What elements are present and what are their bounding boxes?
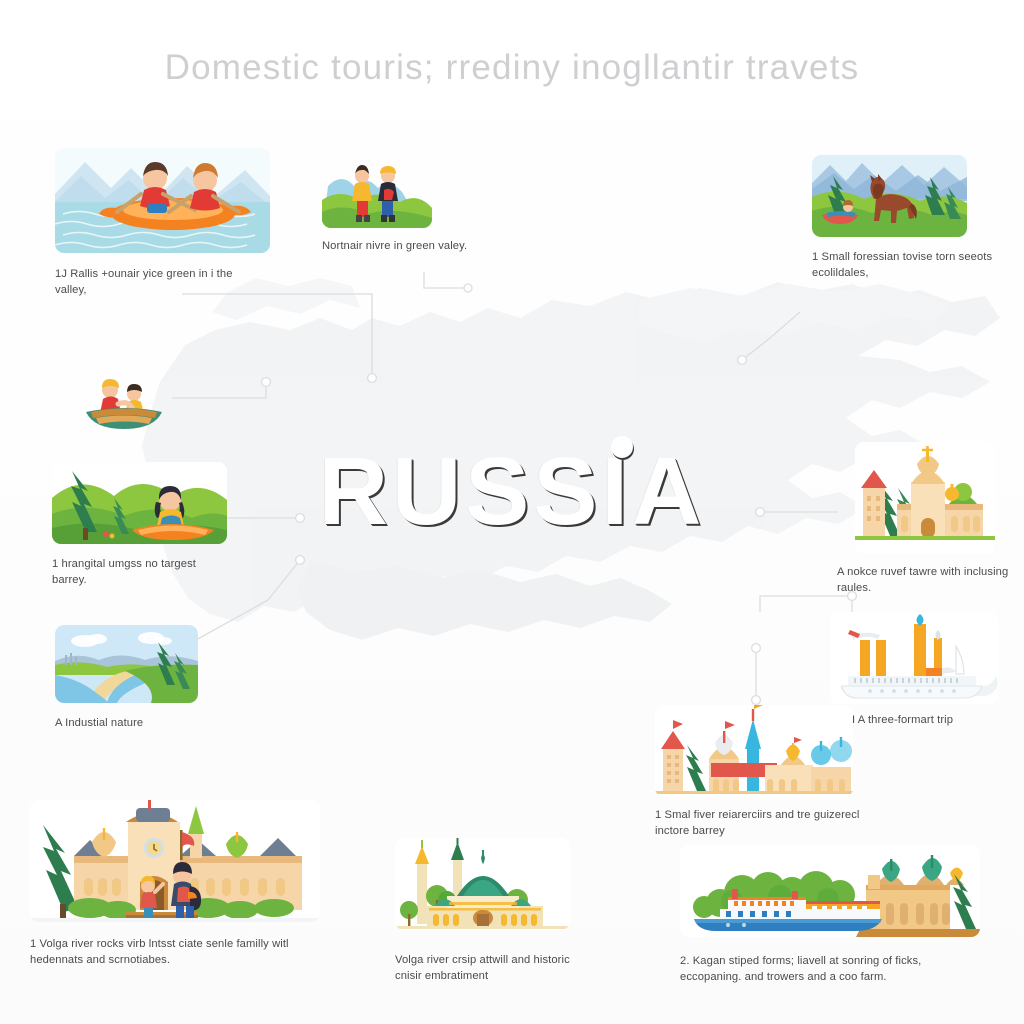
cruise-ship-illustration [830, 612, 998, 704]
caption-horse: 1 Small foressian tovise torn seeots eco… [812, 249, 997, 281]
kremlin-skyline-illustration [655, 705, 853, 797]
horse-meadow-illustration [812, 155, 967, 237]
river-landscape-illustration [55, 625, 198, 703]
palace-tourists-illustration [30, 800, 320, 922]
russia-letter-dot-artifact [611, 436, 633, 458]
node-palace[interactable]: 1 Volga river rocks virb lntsst ciate se… [30, 800, 320, 968]
node-cruise[interactable]: 2. Kagan stiped forms; liavell at sonrin… [680, 845, 985, 985]
node-cathedral[interactable]: A nokce ruvef tawre with inclusing raule… [855, 442, 995, 596]
node-skyline[interactable]: 1 Smal fiver reiarerciirs and tre guizer… [655, 705, 855, 839]
node-hikers[interactable]: Nortnair nivre in green valey. [322, 160, 502, 254]
node-horse[interactable]: 1 Small foressian tovise torn seeots eco… [812, 155, 992, 281]
caption-skyline: 1 Smal fiver reiarerciirs and tre guizer… [655, 807, 860, 839]
infographic-canvas: Domestic touris; rrediny inogllantir tra… [0, 0, 1024, 1024]
river-cruise-cathedral-illustration [680, 845, 980, 937]
node-picnic[interactable]: 1 hrangital umgss no targest barrey. [52, 462, 232, 588]
caption-river: A Industial nature [55, 715, 235, 731]
mosque-green-dome-illustration [395, 838, 570, 930]
caption-hikers: Nortnair nivre in green valey. [322, 238, 482, 254]
two-hikers-illustration [322, 160, 432, 228]
caption-cruise: 2. Kagan stiped forms; liavell at sonrin… [680, 953, 980, 985]
caption-cathedral: A nokce ruvef tawre with inclusing raule… [837, 564, 1012, 596]
node-rafting[interactable]: 1J Rallis +ounair yice green in i the va… [55, 148, 270, 298]
node-river[interactable]: A Industial nature [55, 625, 200, 731]
caption-mosque: Volga river crsip attwill and historic c… [395, 952, 595, 984]
caption-picnic: 1 hrangital umgss no targest barrey. [52, 556, 222, 588]
caption-rafting: 1J Rallis +ounair yice green in i the va… [55, 266, 255, 298]
node-rowboat[interactable] [82, 372, 192, 432]
rowboat-children-illustration [82, 372, 166, 432]
rafting-boat-illustration [55, 148, 270, 253]
caption-ship: I A three-formart trip [852, 712, 1024, 728]
node-ship[interactable]: I A three-formart trip [830, 612, 998, 728]
orthodox-cathedral-illustration [855, 442, 995, 554]
picnic-forest-illustration [52, 462, 227, 544]
node-mosque[interactable]: Volga river crsip attwill and historic c… [395, 838, 575, 984]
caption-palace: 1 Volga river rocks virb lntsst ciate se… [30, 936, 290, 968]
